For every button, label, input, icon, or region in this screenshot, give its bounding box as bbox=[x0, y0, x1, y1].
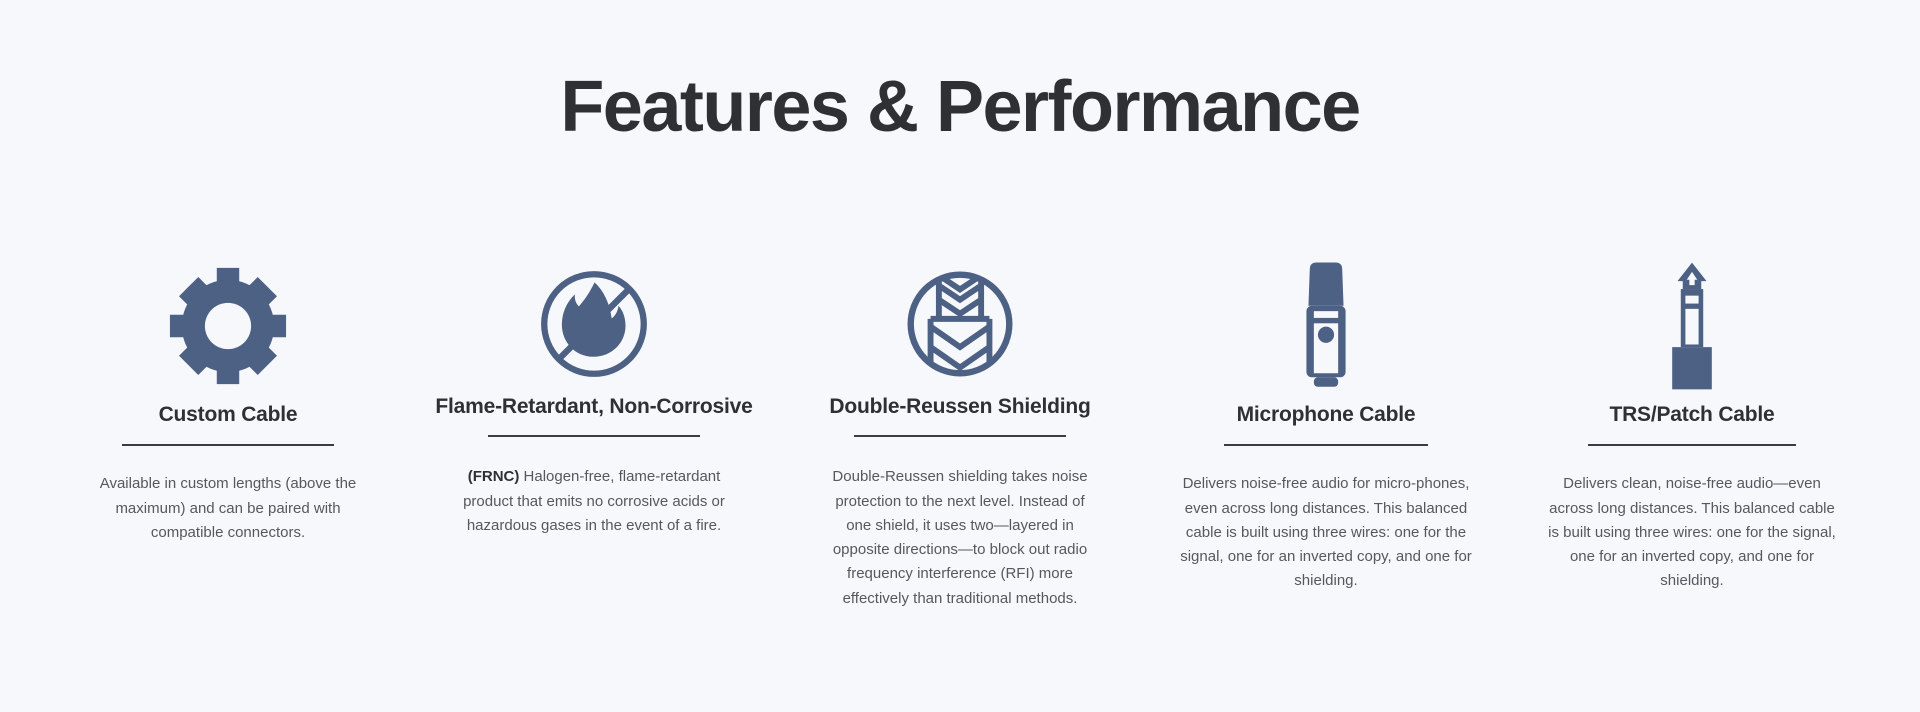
feature-heading: Flame-Retardant, Non-Corrosive bbox=[435, 394, 752, 420]
feature-body: Available in custom lengths (above the m… bbox=[89, 472, 367, 545]
heading-divider bbox=[488, 435, 700, 437]
feature-body: (FRNC) Halogen-free, flame-retardant pro… bbox=[449, 465, 739, 538]
feature-heading: TRS/Patch Cable bbox=[1609, 402, 1774, 428]
feature-body-text: Double-Reussen shielding takes noise pro… bbox=[832, 468, 1087, 606]
feature-heading: Microphone Cable bbox=[1237, 402, 1416, 428]
features-performance-section: Features & Performance bbox=[0, 0, 1920, 712]
feature-card-double-reussen-shielding: Double-Reussen Shielding Double-Reussen … bbox=[792, 250, 1128, 611]
microphone-icon bbox=[1299, 250, 1353, 402]
feature-body-lead: (FRNC) bbox=[468, 468, 520, 485]
feature-card-flame-retardant: Flame-Retardant, Non-Corrosive (FRNC) Ha… bbox=[426, 250, 762, 538]
feature-card-microphone-cable: Microphone Cable Delivers noise-free aud… bbox=[1158, 250, 1494, 594]
feature-heading: Double-Reussen Shielding bbox=[829, 394, 1090, 420]
heading-divider bbox=[854, 435, 1066, 437]
gear-icon bbox=[162, 250, 294, 402]
feature-body-text: Delivers noise-free audio for micro-phon… bbox=[1180, 475, 1472, 589]
feature-grid: Custom Cable Available in custom lengths… bbox=[60, 250, 1860, 611]
heading-divider bbox=[122, 444, 334, 446]
feature-card-trs-patch-cable: TRS/Patch Cable Delivers clean, noise-fr… bbox=[1524, 250, 1860, 594]
feature-card-custom-cable: Custom Cable Available in custom lengths… bbox=[60, 250, 396, 545]
feature-body: Double-Reussen shielding takes noise pro… bbox=[821, 465, 1099, 611]
feature-body: Delivers clean, noise-free audio—even ac… bbox=[1542, 472, 1842, 593]
trs-plug-icon bbox=[1669, 250, 1715, 402]
braided-shield-icon bbox=[896, 250, 1024, 398]
feature-body: Delivers noise-free audio for micro-phon… bbox=[1180, 472, 1472, 593]
feature-body-text: Delivers clean, noise-free audio—even ac… bbox=[1548, 475, 1836, 589]
feature-heading: Custom Cable bbox=[159, 402, 298, 428]
heading-divider bbox=[1588, 444, 1796, 446]
no-flame-icon bbox=[531, 250, 657, 398]
heading-divider bbox=[1224, 444, 1428, 446]
page-title: Features & Performance bbox=[0, 70, 1920, 146]
feature-body-text: Available in custom lengths (above the m… bbox=[100, 475, 357, 541]
